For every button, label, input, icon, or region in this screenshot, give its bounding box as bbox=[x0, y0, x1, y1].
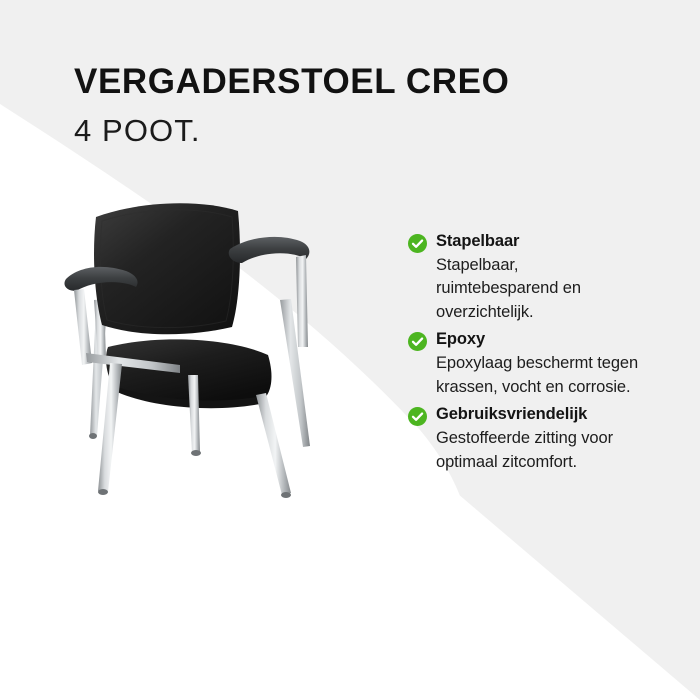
chair-foot-cap-2 bbox=[191, 450, 201, 456]
header-block: VERGADERSTOEL CREO 4 POOT. bbox=[74, 64, 509, 146]
page-subtitle: 4 POOT. bbox=[74, 115, 509, 146]
check-circle-icon bbox=[408, 234, 427, 253]
product-banner: VERGADERSTOEL CREO 4 POOT. bbox=[0, 0, 700, 700]
chair-front-mid-leg bbox=[188, 375, 200, 453]
feature-heading-row: Gebruiksvriendelijk bbox=[408, 405, 658, 426]
feature-title: Epoxy bbox=[436, 330, 485, 349]
feature-description: Gestoffeerde zitting voor optimaal zitco… bbox=[436, 427, 641, 474]
page-title: VERGADERSTOEL CREO bbox=[74, 64, 509, 99]
chair-foot-cap-4 bbox=[89, 433, 97, 439]
feature-list: Stapelbaar Stapelbaar, ruimtebesparend e… bbox=[408, 232, 658, 480]
feature-item: Epoxy Epoxylaag beschermt tegen krassen,… bbox=[408, 330, 658, 399]
feature-heading-row: Epoxy bbox=[408, 330, 658, 351]
chair-right-arm-support bbox=[296, 255, 308, 347]
check-circle-icon bbox=[408, 407, 427, 426]
feature-title: Gebruiksvriendelijk bbox=[436, 405, 587, 424]
feature-item: Stapelbaar Stapelbaar, ruimtebesparend e… bbox=[408, 232, 658, 324]
feature-description: Epoxylaag beschermt tegen krassen, vocht… bbox=[436, 352, 641, 399]
chair-foot-cap-1 bbox=[98, 489, 108, 495]
chair-front-left-leg bbox=[98, 363, 122, 492]
feature-heading-row: Stapelbaar bbox=[408, 232, 658, 253]
feature-title: Stapelbaar bbox=[436, 232, 519, 251]
chair-front-right-leg bbox=[256, 393, 291, 495]
product-chair-image bbox=[60, 195, 350, 505]
chair-foot-cap-3 bbox=[281, 492, 291, 498]
check-circle-icon bbox=[408, 332, 427, 351]
feature-description: Stapelbaar, ruimtebesparend en overzicht… bbox=[436, 254, 641, 324]
feature-item: Gebruiksvriendelijk Gestoffeerde zitting… bbox=[408, 405, 658, 474]
